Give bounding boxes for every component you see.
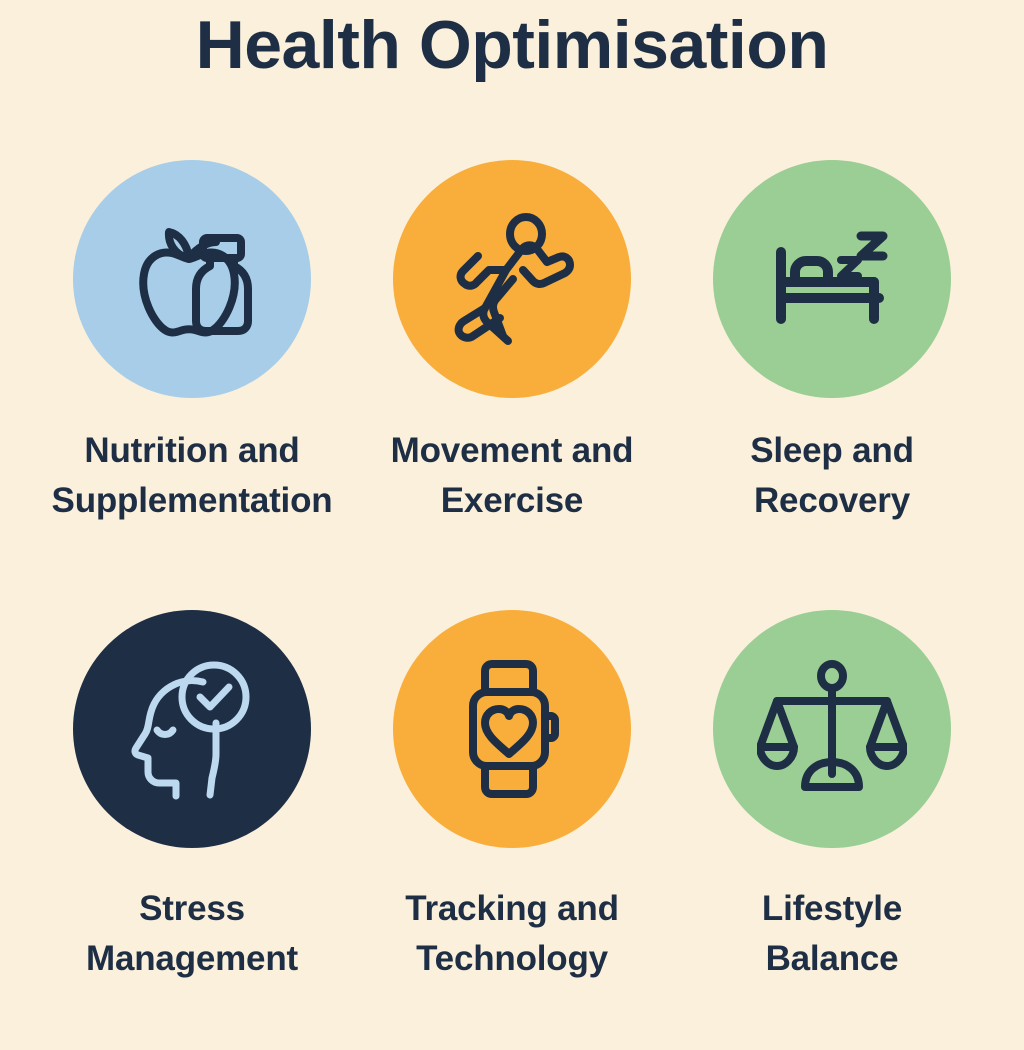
icon-circle-tracking[interactable]	[393, 610, 631, 848]
smartwatch-heart-icon	[437, 654, 587, 804]
card-label-line1: Movement and	[391, 426, 634, 476]
apple-and-supplement-bottle-icon	[117, 204, 267, 354]
page-title-text: Health Optimisation	[196, 7, 829, 83]
icon-circle-movement[interactable]	[393, 160, 631, 398]
card-label-line2: Balance	[762, 934, 902, 984]
icon-circle-lifestyle[interactable]	[713, 610, 951, 848]
card-label-tracking: Tracking and Technology	[405, 884, 619, 983]
card-label-line2: Recovery	[750, 476, 914, 526]
card-movement-and-exercise[interactable]: Movement and Exercise	[352, 160, 672, 600]
icon-circle-stress[interactable]	[73, 610, 311, 848]
infographic-page: Health Optimisation Nutrition and Supple	[0, 0, 1024, 1024]
icon-circle-nutrition[interactable]	[73, 160, 311, 398]
card-label-line1: Nutrition and	[52, 426, 333, 476]
card-label-line1: Lifestyle	[762, 884, 902, 934]
card-label-line1: Sleep and	[750, 426, 914, 476]
card-label-sleep: Sleep and Recovery	[750, 426, 914, 525]
card-label-lifestyle: Lifestyle Balance	[762, 884, 902, 983]
card-label-nutrition: Nutrition and Supplementation	[52, 426, 333, 525]
bed-with-zzz-icon	[757, 204, 907, 354]
card-label-line2: Management	[86, 934, 298, 984]
card-label-line1: Tracking and	[405, 884, 619, 934]
card-label-stress: Stress Management	[86, 884, 298, 983]
card-grid: Nutrition and Supplementation Movem	[32, 160, 992, 1050]
balance-scales-icon	[757, 654, 907, 804]
card-label-line1: Stress	[86, 884, 298, 934]
card-stress-management[interactable]: Stress Management	[32, 610, 352, 1050]
card-label-line2: Technology	[405, 934, 619, 984]
card-sleep-and-recovery[interactable]: Sleep and Recovery	[672, 160, 992, 600]
card-nutrition-and-supplementation[interactable]: Nutrition and Supplementation	[32, 160, 352, 600]
icon-circle-sleep[interactable]	[713, 160, 951, 398]
card-label-line2: Supplementation	[52, 476, 333, 526]
running-person-icon	[437, 204, 587, 354]
card-lifestyle-balance[interactable]: Lifestyle Balance	[672, 610, 992, 1050]
card-label-movement: Movement and Exercise	[391, 426, 634, 525]
head-profile-with-check-icon	[117, 654, 267, 804]
card-tracking-and-technology[interactable]: Tracking and Technology	[352, 610, 672, 1050]
page-title: Health Optimisation	[0, 8, 1024, 83]
card-label-line2: Exercise	[391, 476, 634, 526]
